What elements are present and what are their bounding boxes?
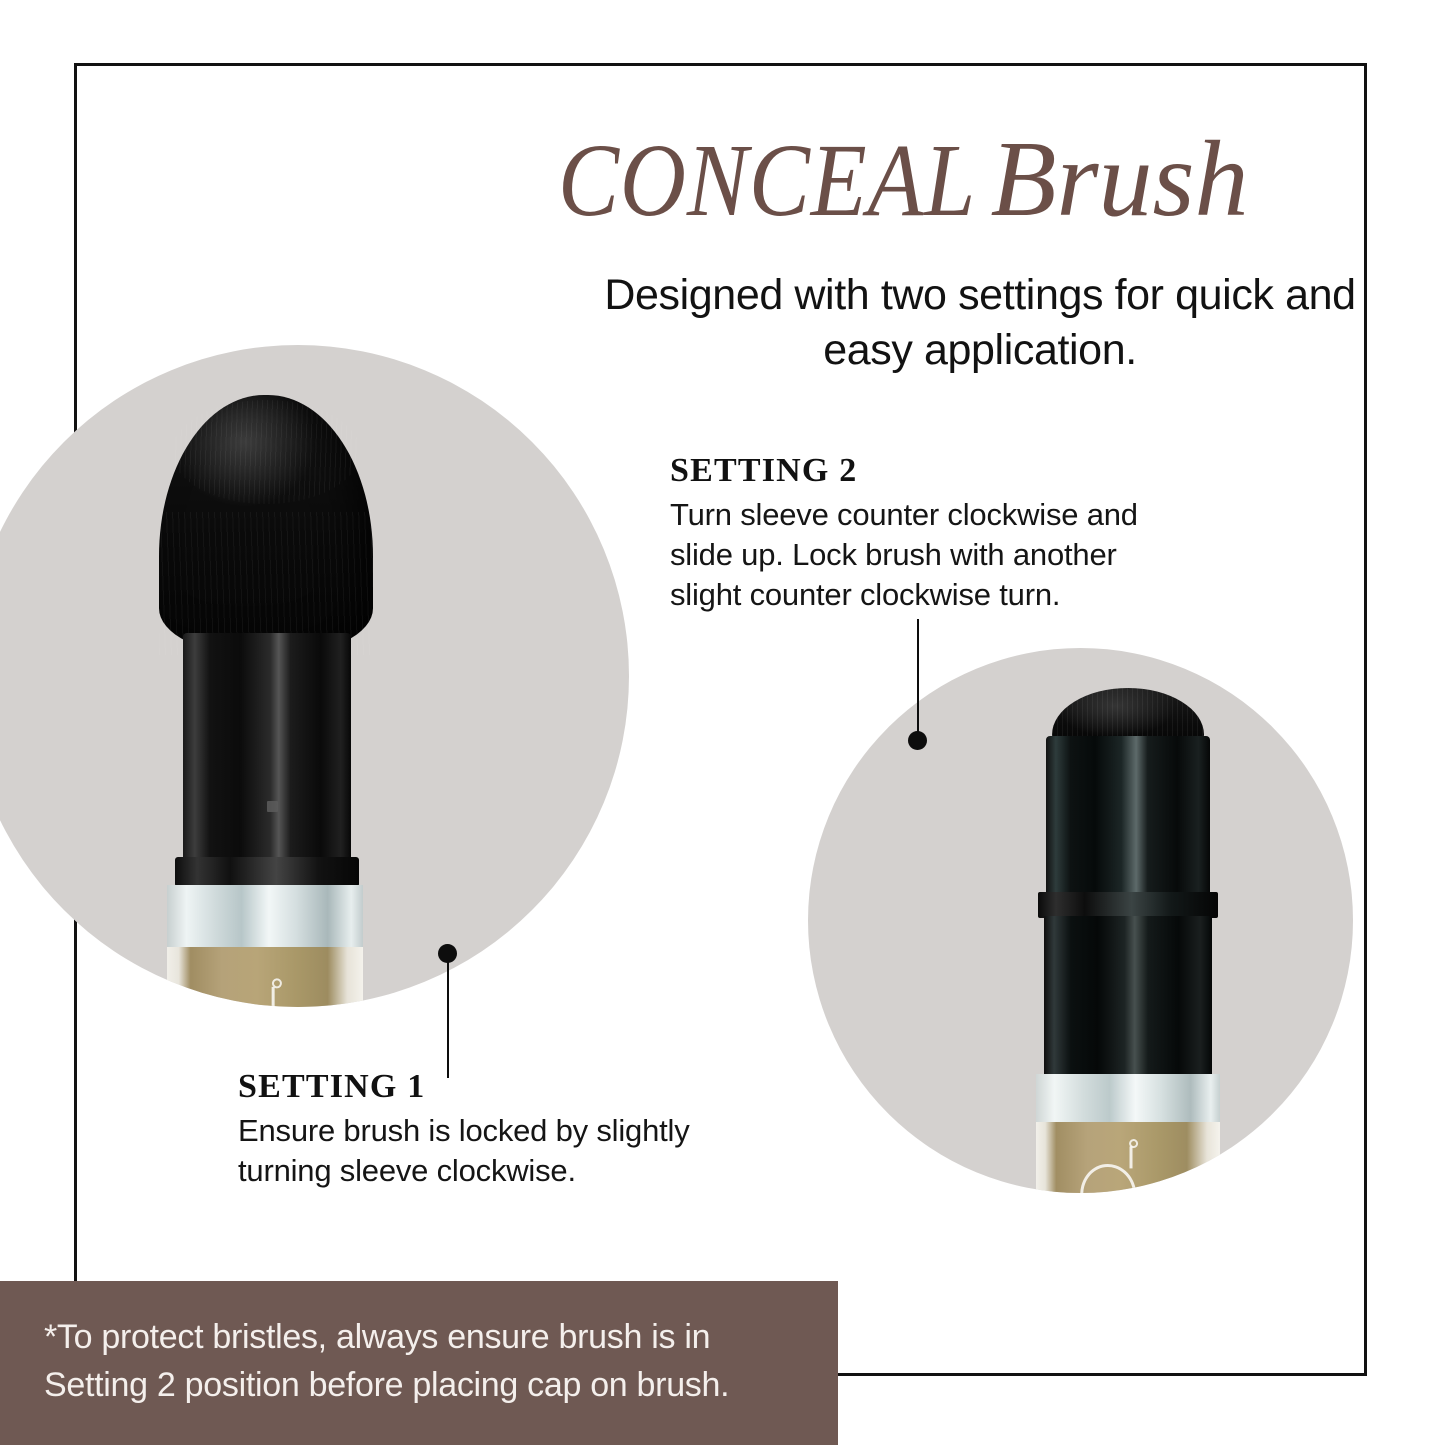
brush-gold-base	[1036, 1122, 1220, 1193]
callout-setting-2: SETTING 2 Turn sleeve counter clockwise …	[670, 452, 1170, 615]
brush-barrel	[183, 633, 351, 861]
brush-bristles	[159, 395, 373, 655]
product-photo-setting-2	[808, 648, 1353, 1193]
page-subtitle: Designed with two settings for quick and…	[600, 268, 1360, 378]
callout-body-setting-1: Ensure brush is locked by slightly turni…	[238, 1111, 758, 1191]
callout-leader-line-setting-1	[447, 960, 449, 1078]
callout-leader-line-setting-2	[917, 619, 919, 737]
title-word-conceal: CONCEAL	[558, 121, 976, 240]
brush-collar-ring	[175, 857, 359, 887]
brush-barrel	[1046, 736, 1210, 896]
brush-gold-base	[167, 947, 363, 1007]
title-word-brush: Brush	[991, 118, 1249, 242]
callout-title-setting-2: SETTING 2	[670, 452, 1170, 490]
product-photo-setting-1	[0, 345, 629, 1007]
brush-chrome-band	[167, 885, 363, 951]
brush-chrome-band	[1036, 1074, 1220, 1124]
brush-sleeve	[1044, 916, 1212, 1076]
barrel-detail-mark	[267, 801, 278, 812]
infographic-page: CONCEALBrush Designed with two settings …	[0, 0, 1445, 1445]
page-title: CONCEALBrush	[430, 118, 1320, 242]
callout-title-setting-1: SETTING 1	[238, 1068, 758, 1106]
footer-note-banner: *To protect bristles, always ensure brus…	[0, 1281, 838, 1445]
callout-setting-1: SETTING 1 Ensure brush is locked by slig…	[238, 1068, 758, 1191]
brush-collar-ring	[1038, 892, 1218, 918]
callout-body-setting-2: Turn sleeve counter clockwise and slide …	[670, 495, 1170, 615]
brand-logo-icon	[1077, 1161, 1139, 1193]
brand-logo-icon	[208, 1006, 283, 1007]
footer-note-text: *To protect bristles, always ensure brus…	[44, 1313, 814, 1409]
